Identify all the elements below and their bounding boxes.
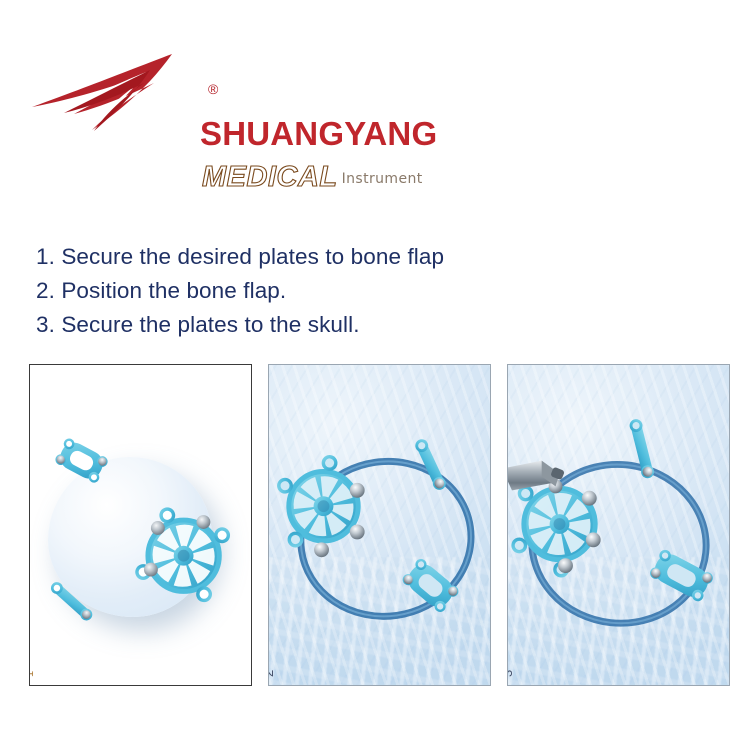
panel-2-photo bbox=[269, 365, 490, 685]
brand-tagline: MEDICALInstrument bbox=[202, 163, 423, 192]
swoosh-arrow-mark-icon bbox=[30, 52, 175, 132]
figure-panel-1: 1 bbox=[29, 364, 252, 686]
brand-header: ® SHUANGYANG MEDICALInstrument bbox=[30, 40, 450, 160]
instruction-step-3: 3. Secure the plates to the skull. bbox=[36, 308, 636, 342]
panel-number-3: 3 bbox=[507, 670, 514, 677]
instruction-step-1: 1. Secure the desired plates to bone fla… bbox=[36, 240, 636, 274]
figure-panel-strip: 1 bbox=[29, 364, 729, 688]
brand-tagline-medical: MEDICAL bbox=[202, 161, 338, 193]
instruction-step-2: 2. Position the bone flap. bbox=[36, 274, 636, 308]
panel-number-1: 1 bbox=[29, 671, 36, 677]
panel-3-hardware bbox=[508, 365, 729, 685]
brand-tagline-instrument: Instrument bbox=[342, 171, 423, 187]
panel-1-hardware bbox=[30, 365, 251, 685]
panel-1-photo bbox=[30, 365, 251, 685]
panel-2-hardware bbox=[269, 365, 490, 685]
figure-panel-2: 2 bbox=[268, 364, 491, 686]
figure-panel-3: 3 bbox=[507, 364, 730, 686]
instruction-list: 1. Secure the desired plates to bone fla… bbox=[36, 240, 636, 342]
brand-name: SHUANGYANG bbox=[200, 117, 437, 150]
registered-trademark-symbol: ® bbox=[208, 82, 218, 96]
panel-3-photo bbox=[508, 365, 729, 685]
panel-number-2: 2 bbox=[268, 670, 275, 677]
